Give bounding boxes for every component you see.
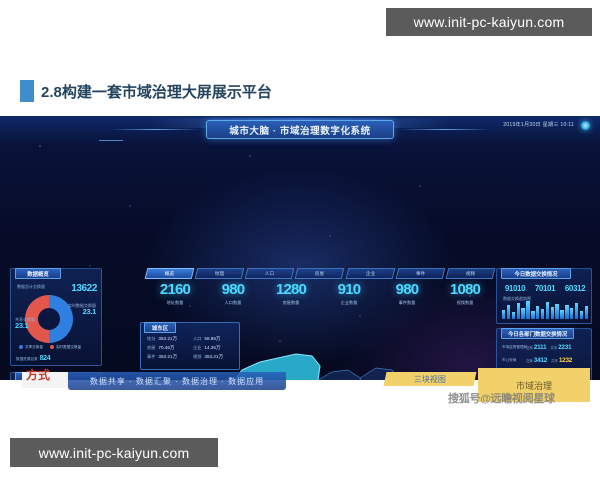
department-label: 市场监督管理局 [502, 345, 526, 349]
tab-label: 概览 [165, 271, 174, 277]
tooltip-value: 353.21万 [158, 354, 177, 360]
tooltip-row: 房屋70.46万 企业14.35万 [147, 345, 237, 351]
bar [541, 309, 544, 319]
map-tooltip-rows: 地址353.21万 人口58.85万 房屋70.46万 企业14.35万 事件3… [147, 336, 237, 363]
bar [531, 311, 534, 319]
map-tooltip-title: 城东区 [144, 322, 176, 333]
status-indicator-icon [581, 121, 590, 130]
pair-value: 3412 [534, 357, 547, 364]
bar [512, 312, 515, 319]
tab-geography[interactable]: 地理 [195, 268, 245, 279]
department-share-pair: 共享2231 [550, 344, 571, 351]
pair-prefix: 共享 [551, 358, 558, 363]
tab-label: 房屋 [315, 271, 324, 277]
bar [555, 304, 558, 319]
exchange-value: 60312 [565, 284, 585, 293]
tooltip-label: 企业 [193, 345, 201, 351]
bar [570, 308, 573, 319]
page-title: 2.8构建一套市域治理大屏展示平台 [41, 81, 272, 102]
donut-legend: 共享交换量 实时数据交换量 [19, 345, 81, 350]
tooltip-value: 58.85万 [204, 336, 220, 342]
legend-label: 实时数据交换量 [56, 345, 81, 349]
department-row: 市场监督管理局 交换2111 共享2231 [502, 344, 588, 351]
department-share-pair: 共享1232 [551, 357, 572, 364]
kpi-value: 1280 [262, 282, 320, 297]
tooltip-cell: 事件353.21万 [147, 354, 191, 360]
tab-video[interactable]: 视频 [445, 268, 495, 279]
footer-blue-strip: 数据共享 · 数据汇聚 · 数据治理 · 数据应用 [68, 372, 286, 390]
kpi-value: 2160 [146, 282, 204, 297]
kpi-label: 视频数量 [436, 300, 494, 306]
kpi-housing: 1280 房屋数量 [262, 282, 320, 316]
tooltip-value: 353.21万 [158, 336, 177, 342]
kpi-row: 2160 地址数量 980 人口数量 1280 房屋数量 910 企业数量 98… [146, 282, 494, 316]
bar [575, 303, 578, 319]
tab-population[interactable]: 人口 [245, 268, 295, 279]
panel-data-overview: 数据概览 数据总计交换量 13622 23.1 共享交换量 23.1 实时数据交… [10, 268, 102, 366]
stat-value: 824 [40, 355, 51, 362]
watermark-bottom: www.init-pc-kaiyun.com [10, 438, 218, 467]
bar [536, 306, 539, 319]
tooltip-cell: 视频353.21万 [193, 354, 237, 360]
dashboard-title-plate: 城市大脑 · 市域治理数字化系统 [206, 120, 394, 139]
tab-label: 企业 [366, 271, 375, 277]
panel-today-exchange: 今日数据交换情况 91010 70101 60312 数据交换趋势图 [496, 268, 592, 324]
today-exchange-values: 91010 70101 60312 [500, 284, 590, 293]
data-overview-total: 13622 [71, 283, 97, 294]
panel-department-exchange-title: 今日各部门数据交换情况 [501, 328, 574, 339]
footer-yellow-tab-a: 三块视图 [384, 372, 477, 386]
legend-item: 共享交换量 [19, 345, 43, 350]
header-datetime: 2019年1月30日 星期三 10:11 [503, 121, 574, 128]
bar [585, 306, 588, 319]
bar [517, 303, 520, 319]
exchange-value: 70101 [535, 284, 555, 293]
department-exchange-pair: 交换2111 [526, 344, 546, 351]
stat-label: 数据资源目录 [16, 357, 38, 362]
tooltip-value: 14.35万 [204, 345, 220, 351]
watermark-top: www.init-pc-kaiyun.com [386, 8, 592, 36]
pair-value: 1232 [559, 357, 572, 364]
bar [580, 311, 583, 319]
kpi-label: 企业数量 [320, 300, 378, 306]
footer-corner-dots: · · · [575, 366, 594, 372]
dashboard-tabbar[interactable]: 概览 地理 人口 房屋 企业 事件 视频 [146, 268, 494, 279]
bar [551, 307, 554, 319]
tooltip-label: 视频 [193, 354, 201, 360]
data-overview-subtitle: 数据总计交换量 [17, 284, 45, 290]
pair-prefix: 共享 [550, 345, 557, 350]
bar [560, 310, 563, 319]
header-divider-right [400, 129, 490, 130]
donut-label-left: 共享交换量 [15, 317, 35, 323]
dashboard-title: 城市大脑 · 市域治理数字化系统 [229, 123, 371, 137]
tooltip-cell: 人口58.85万 [193, 336, 237, 342]
tooltip-cell: 地址353.21万 [147, 336, 191, 342]
tooltip-cell: 房屋70.46万 [147, 345, 191, 351]
tooltip-row: 地址353.21万 人口58.85万 [147, 336, 237, 342]
pair-value: 2111 [534, 344, 547, 351]
stat-item: 数据资源目录 824 [16, 355, 57, 362]
tab-label: 地理 [215, 271, 224, 277]
kpi-value: 980 [204, 282, 262, 297]
department-label: 市公安局 [502, 358, 526, 362]
tooltip-label: 地址 [147, 336, 155, 342]
pair-value: 2231 [558, 344, 571, 351]
legend-item: 实时数据交换量 [50, 345, 81, 350]
pair-prefix: 交换 [526, 345, 533, 350]
tooltip-label: 房屋 [147, 345, 155, 351]
kpi-population: 980 人口数量 [204, 282, 262, 316]
footer-yellow-a-label: 三块视图 [414, 374, 446, 385]
tab-label: 事件 [416, 271, 425, 277]
donut-label-right: 实时数据交换量 [68, 303, 96, 309]
slide-page: www.init-pc-kaiyun.com 2.8构建一套市域治理大屏展示平台… [0, 0, 600, 480]
kpi-label: 地址数量 [146, 300, 204, 306]
kpi-label: 房屋数量 [262, 300, 320, 306]
tooltip-row: 事件353.21万 视频353.21万 [147, 354, 237, 360]
tooltip-value: 353.21万 [204, 354, 223, 360]
bar [502, 310, 505, 319]
tooltip-leader-line [99, 140, 123, 141]
heading-accent-bar [20, 80, 34, 102]
tooltip-label: 人口 [193, 336, 201, 342]
map-tooltip: 城东区 地址353.21万 人口58.85万 房屋70.46万 企业14.35万… [140, 322, 240, 370]
kpi-video: 1080 视频数量 [436, 282, 494, 316]
bar [526, 301, 529, 319]
bar [546, 302, 549, 319]
bar [521, 308, 524, 319]
dashboard-screenshot: 城市大脑 · 市域治理数字化系统 2019年1月30日 星期三 10:11 数据… [0, 116, 600, 380]
tab-label: 人口 [265, 271, 274, 277]
exchange-bar-chart [502, 301, 588, 319]
tab-housing[interactable]: 房屋 [295, 268, 345, 279]
panel-data-overview-title: 数据概览 [15, 268, 61, 279]
dashboard-header: 城市大脑 · 市域治理数字化系统 2019年1月30日 星期三 10:11 [0, 116, 600, 146]
tab-events[interactable]: 事件 [395, 268, 445, 279]
watermark-sohu: 搜狐号@远瞻视阅星球 [448, 390, 555, 406]
tooltip-cell: 企业14.35万 [193, 345, 237, 351]
tooltip-value: 70.46万 [158, 345, 174, 351]
kpi-value: 1080 [436, 282, 494, 297]
kpi-label: 事件数量 [378, 300, 436, 306]
kpi-value: 910 [320, 282, 378, 297]
footer-red-text: 方式 [26, 366, 50, 383]
tab-label: 视频 [466, 271, 475, 277]
department-row: 市公安局 交换3412 共享1232 [502, 357, 588, 364]
slide-heading: 2.8构建一套市域治理大屏展示平台 [20, 80, 272, 102]
bar [507, 305, 510, 319]
tooltip-label: 事件 [147, 354, 155, 360]
kpi-enterprise: 910 企业数量 [320, 282, 378, 316]
legend-label: 共享交换量 [25, 345, 43, 349]
exchange-value: 91010 [505, 284, 525, 293]
kpi-value: 980 [378, 282, 436, 297]
kpi-label: 人口数量 [204, 300, 262, 306]
tab-enterprise[interactable]: 企业 [345, 268, 395, 279]
bar [565, 305, 568, 319]
panel-today-exchange-title: 今日数据交换情况 [501, 268, 571, 279]
tab-overview[interactable]: 概览 [145, 268, 195, 279]
kpi-address: 2160 地址数量 [146, 282, 204, 316]
pair-prefix: 交换 [526, 358, 533, 363]
department-exchange-pair: 交换3412 [526, 357, 547, 364]
header-divider-left [110, 129, 200, 130]
kpi-events: 980 事件数量 [378, 282, 436, 316]
